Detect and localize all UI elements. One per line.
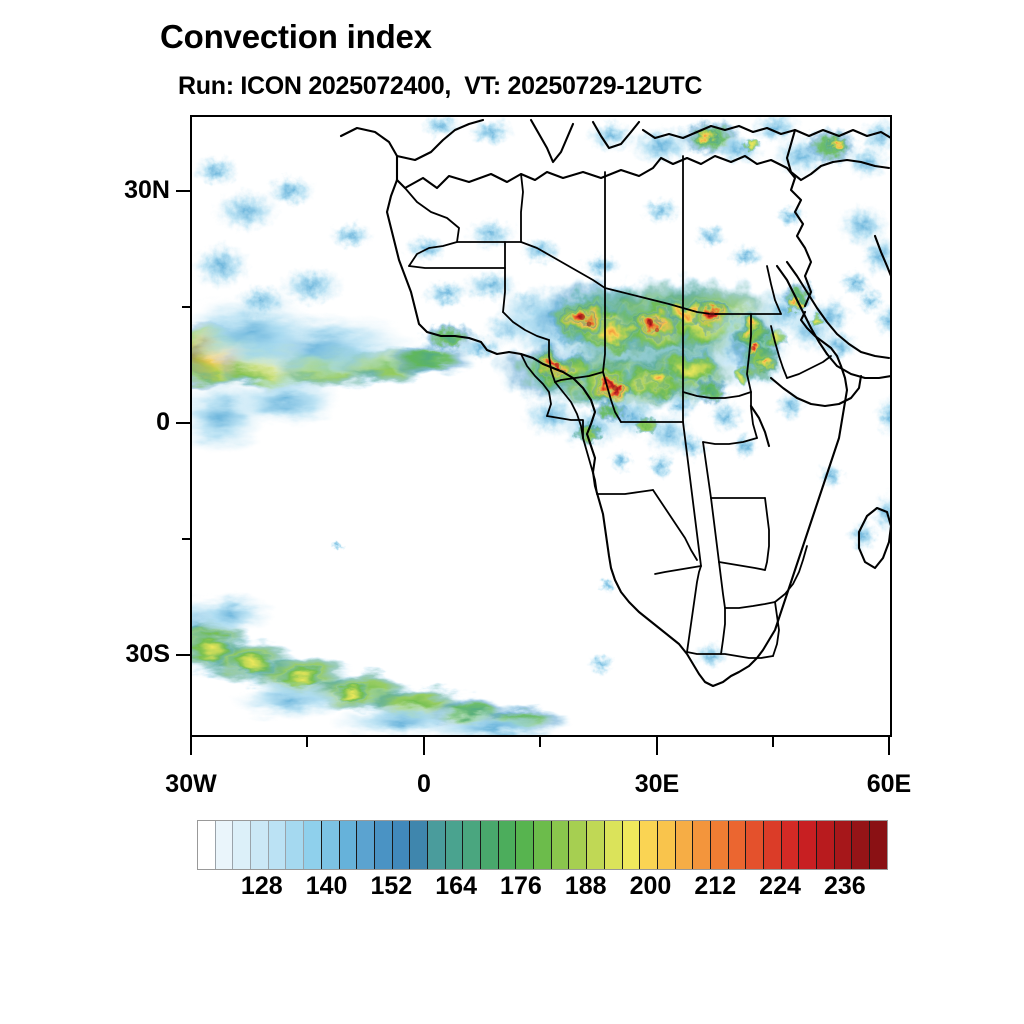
colorbar-cell <box>658 821 676 869</box>
colorbar-cell <box>746 821 764 869</box>
ytick-major-30s <box>176 654 190 656</box>
xtick-label-0: 0 <box>384 770 464 799</box>
convection-map <box>191 116 891 736</box>
colorbar-cell <box>640 821 658 869</box>
xtick-label-30e: 30E <box>617 770 697 799</box>
colorbar-cell <box>711 821 729 869</box>
xtick-major-30w <box>190 737 192 755</box>
colorbar-cell <box>322 821 340 869</box>
ytick-label-0: 0 <box>100 408 170 437</box>
ytick-minor-15n <box>182 306 190 308</box>
colorbar-cell <box>216 821 234 869</box>
colorbar-cell <box>870 821 887 869</box>
colorbar-cell <box>693 821 711 869</box>
colorbar-cell <box>393 821 411 869</box>
colorbar-tick-label: 224 <box>759 872 801 901</box>
colorbar-cell <box>481 821 499 869</box>
colorbar-tick-label: 236 <box>824 872 866 901</box>
ytick-minor-15s <box>182 538 190 540</box>
colorbar-cell <box>304 821 322 869</box>
colorbar-cell <box>269 821 287 869</box>
xtick-major-60e <box>888 737 890 755</box>
colorbar-cells[interactable] <box>197 820 888 870</box>
colorbar-cell <box>852 821 870 869</box>
xtick-minor-15w <box>306 737 308 747</box>
colorbar-cell <box>534 821 552 869</box>
colorbar-cell <box>357 821 375 869</box>
page-title: Convection index <box>160 18 1024 56</box>
xtick-label-60e: 60E <box>849 770 929 799</box>
ytick-label-30n: 30N <box>100 176 170 205</box>
colorbar-tick-label: 188 <box>565 872 607 901</box>
colorbar-cell <box>286 821 304 869</box>
colorbar-cell <box>835 821 853 869</box>
run-valid-time-subtitle: Run: ICON 2025072400, VT: 20250729-12UTC <box>178 72 1024 101</box>
colorbar-tick-label: 200 <box>630 872 672 901</box>
colorbar[interactable]: 128140152164176188200212224236 <box>197 820 888 870</box>
colorbar-cell <box>251 821 269 869</box>
colorbar-tick-label: 128 <box>241 872 283 901</box>
colorbar-cell <box>729 821 747 869</box>
colorbar-cell <box>782 821 800 869</box>
colorbar-cell <box>428 821 446 869</box>
colorbar-cell <box>817 821 835 869</box>
xtick-label-30w: 30W <box>151 770 231 799</box>
xtick-major-30e <box>656 737 658 755</box>
colorbar-cell <box>463 821 481 869</box>
colorbar-cell <box>499 821 517 869</box>
colorbar-cell <box>340 821 358 869</box>
ytick-major-0 <box>176 422 190 424</box>
colorbar-cell <box>764 821 782 869</box>
map-plot-area[interactable] <box>190 115 892 737</box>
colorbar-tick-label: 152 <box>370 872 412 901</box>
colorbar-cell <box>375 821 393 869</box>
colorbar-cell <box>516 821 534 869</box>
ytick-major-30n <box>176 190 190 192</box>
colorbar-cell <box>799 821 817 869</box>
colorbar-cell <box>410 821 428 869</box>
colorbar-cell <box>233 821 251 869</box>
colorbar-cell <box>552 821 570 869</box>
colorbar-tick-label: 164 <box>435 872 477 901</box>
xtick-major-0 <box>423 737 425 755</box>
colorbar-cell <box>587 821 605 869</box>
xtick-minor-15e <box>539 737 541 747</box>
figure-canvas: Convection index Run: ICON 2025072400, V… <box>0 0 1024 1024</box>
ytick-label-30s: 30S <box>100 640 170 669</box>
colorbar-tick-label: 212 <box>694 872 736 901</box>
colorbar-tick-label: 176 <box>500 872 542 901</box>
colorbar-cell <box>446 821 464 869</box>
xtick-minor-45e <box>772 737 774 747</box>
colorbar-tick-labels: 128140152164176188200212224236 <box>197 872 888 912</box>
colorbar-cell <box>605 821 623 869</box>
colorbar-cell <box>623 821 641 869</box>
colorbar-cell <box>569 821 587 869</box>
colorbar-cell <box>676 821 694 869</box>
colorbar-tick-label: 140 <box>306 872 348 901</box>
colorbar-cell <box>198 821 216 869</box>
